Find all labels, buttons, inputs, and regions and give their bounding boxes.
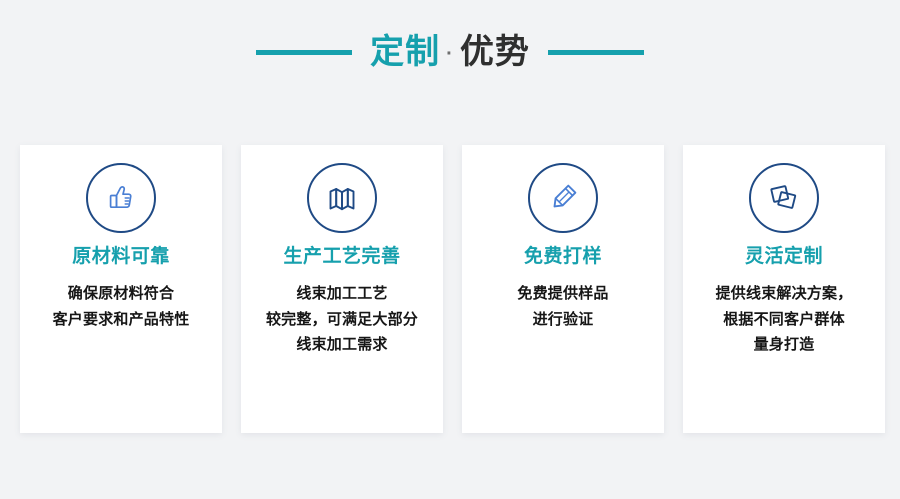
section-heading: 定制 · 优势 — [0, 22, 900, 82]
thumbs-up-icon — [103, 180, 139, 216]
advantage-cards-row: 原材料可靠 确保原材料符合 客户要求和产品特性 生产工艺完善 线束加工工艺 较完… — [20, 145, 885, 433]
page-title-main: 优势 — [460, 35, 530, 69]
icon-circle — [528, 163, 598, 233]
heading-rule-left — [256, 50, 352, 55]
stacked-cards-icon — [765, 179, 803, 217]
advantage-card[interactable]: 灵活定制 提供线束解决方案， 根据不同客户群体 量身打造 — [683, 145, 885, 433]
icon-circle — [307, 163, 377, 233]
card-title: 生产工艺完善 — [283, 246, 400, 269]
icon-circle — [86, 163, 156, 233]
card-body: 免费提供样品 进行验证 — [509, 281, 616, 333]
card-body: 提供线束解决方案， 根据不同客户群体 量身打造 — [708, 281, 861, 358]
page-title-accent: 定制 — [370, 35, 440, 69]
card-title: 免费打样 — [524, 246, 602, 269]
advantage-card[interactable]: 生产工艺完善 线束加工工艺 较完整，可满足大部分 线束加工需求 — [241, 145, 443, 433]
card-body: 确保原材料符合 客户要求和产品特性 — [45, 281, 198, 333]
page-title-separator: · — [440, 44, 460, 64]
pencil-icon — [544, 179, 582, 217]
card-title: 灵活定制 — [745, 246, 823, 269]
card-title: 原材料可靠 — [72, 246, 170, 269]
folded-map-icon — [324, 180, 360, 216]
heading-rule-right — [548, 50, 644, 55]
icon-circle — [749, 163, 819, 233]
card-body: 线束加工工艺 较完整，可满足大部分 线束加工需求 — [258, 281, 426, 358]
advantage-card[interactable]: 免费打样 免费提供样品 进行验证 — [462, 145, 664, 433]
page-title: 定制 · 优势 — [370, 35, 530, 69]
advantage-card[interactable]: 原材料可靠 确保原材料符合 客户要求和产品特性 — [20, 145, 222, 433]
